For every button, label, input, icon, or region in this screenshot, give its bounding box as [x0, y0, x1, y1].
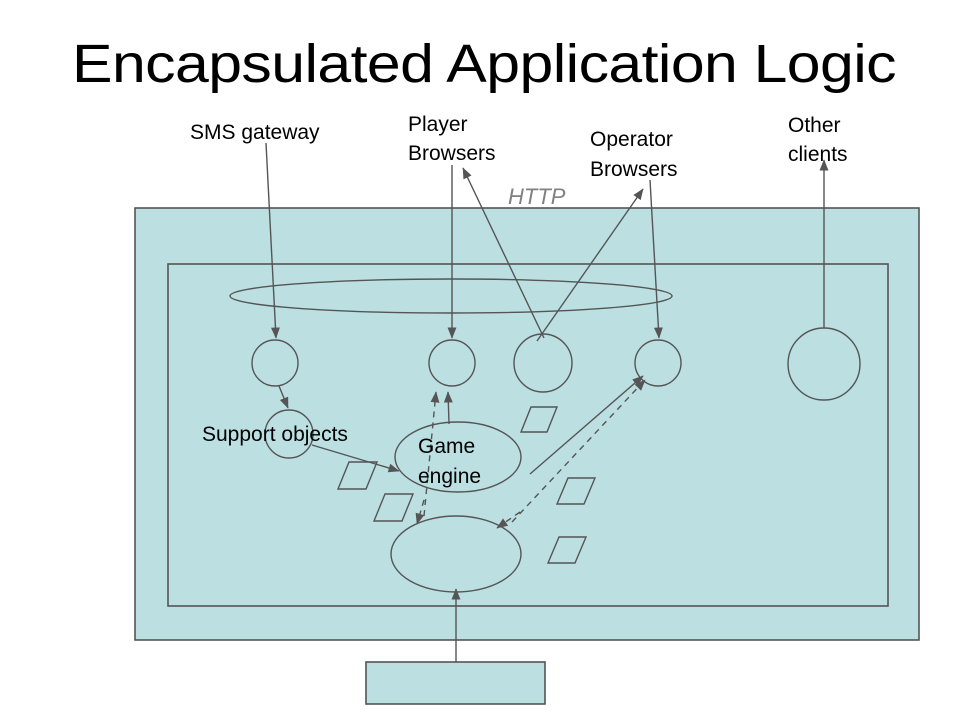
label-http-annotation: HTTP: [508, 184, 566, 209]
connector-engine-to-player-circle: [448, 392, 449, 424]
label-other-clients-line1: Other: [788, 114, 841, 137]
label-player-browsers-line1: Player: [408, 113, 468, 136]
datastore-box: [366, 662, 545, 704]
slide-canvas: Encapsulated Application Logic: [0, 0, 960, 720]
label-game-engine-line1: Game: [418, 435, 475, 458]
label-operator-browsers-line1: Operator: [590, 128, 673, 151]
label-other-clients-line2: clients: [788, 143, 848, 166]
label-game-engine-line2: engine: [418, 465, 481, 488]
page-title: Encapsulated Application Logic: [72, 34, 896, 94]
label-sms-gateway: SMS gateway: [190, 121, 320, 144]
architecture-diagram: Encapsulated Application Logic: [0, 0, 960, 720]
label-operator-browsers-line2: Browsers: [590, 158, 678, 181]
label-player-browsers-line2: Browsers: [408, 142, 496, 165]
label-support-objects: Support objects: [202, 423, 348, 446]
